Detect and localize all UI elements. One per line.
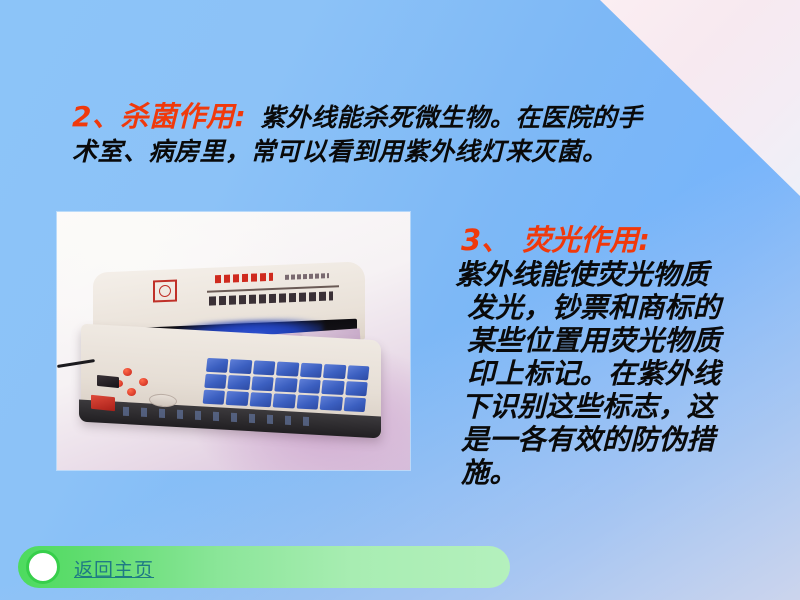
return-home-bar[interactable]: 返回主页	[18, 546, 510, 588]
keypad-key	[203, 390, 226, 405]
keypad-key	[345, 381, 368, 396]
side-line-5: 下识别这些标志，这	[453, 390, 788, 423]
return-home-link[interactable]: 返回主页	[74, 555, 154, 582]
keypad-key	[228, 375, 251, 390]
side-line-7: 施。	[453, 456, 788, 489]
machine-logo-icon	[153, 279, 177, 302]
keypad-key	[323, 364, 346, 379]
headline-body-part-1: 紫外线能杀死微生物。在医院的手	[260, 103, 643, 132]
keypad-key	[206, 358, 229, 373]
keypad-key	[204, 374, 227, 389]
side-line-6: 是一各有效的防伪措	[453, 423, 788, 456]
keypad-key	[347, 365, 370, 380]
keypad-key	[300, 363, 323, 378]
headline-line-1: 2、杀菌作用:紫外线能杀死微生物。在医院的手	[72, 100, 732, 135]
keypad-key	[298, 379, 321, 394]
toggle-switch-dark	[97, 375, 119, 388]
keypad-key	[321, 380, 344, 395]
indicator-lamp	[123, 368, 132, 376]
side-line-4: 印上标记。在紫外线	[453, 357, 788, 390]
keypad-key	[275, 377, 298, 392]
side-title: 荧光作用:	[522, 223, 650, 257]
machine-keypad	[203, 358, 370, 412]
side-line-3: 某些位置用荧光物质	[453, 324, 788, 357]
keypad-key	[296, 395, 319, 410]
headline-line-2: 术室、病房里，常可以看到用紫外线灯来灭菌。	[72, 135, 732, 169]
keypad-key	[273, 393, 296, 408]
banknote-detector-photo	[57, 212, 410, 470]
bullet-circle-icon	[26, 550, 60, 584]
side-number: 3、	[461, 223, 510, 257]
toggle-switch-red	[91, 395, 115, 412]
side-title-line: 3、荧光作用:	[453, 222, 788, 258]
headline-title: 杀菌作用:	[120, 100, 246, 133]
keypad-key	[276, 362, 299, 377]
keypad-key	[253, 360, 276, 375]
keypad-key	[226, 391, 249, 406]
indicator-lamp	[139, 378, 148, 386]
keypad-key	[249, 392, 272, 407]
keypad-key	[251, 376, 274, 391]
keypad-key	[320, 396, 343, 411]
side-line-1: 紫外线能使荧光物质	[453, 258, 788, 291]
headline-number: 2、	[72, 100, 120, 133]
keypad-key	[229, 359, 252, 374]
side-line-2: 发光，钞票和商标的	[453, 291, 788, 324]
presentation-slide: 2、杀菌作用:紫外线能杀死微生物。在医院的手 术室、病房里，常可以看到用紫外线灯…	[0, 0, 800, 600]
indicator-lamp	[127, 388, 136, 396]
keypad-key	[343, 397, 366, 412]
side-text-block: 3、荧光作用: 紫外线能使荧光物质 发光，钞票和商标的 某些位置用荧光物质 印上…	[453, 222, 788, 489]
headline-block: 2、杀菌作用:紫外线能杀死微生物。在医院的手 术室、病房里，常可以看到用紫外线灯…	[72, 100, 732, 169]
